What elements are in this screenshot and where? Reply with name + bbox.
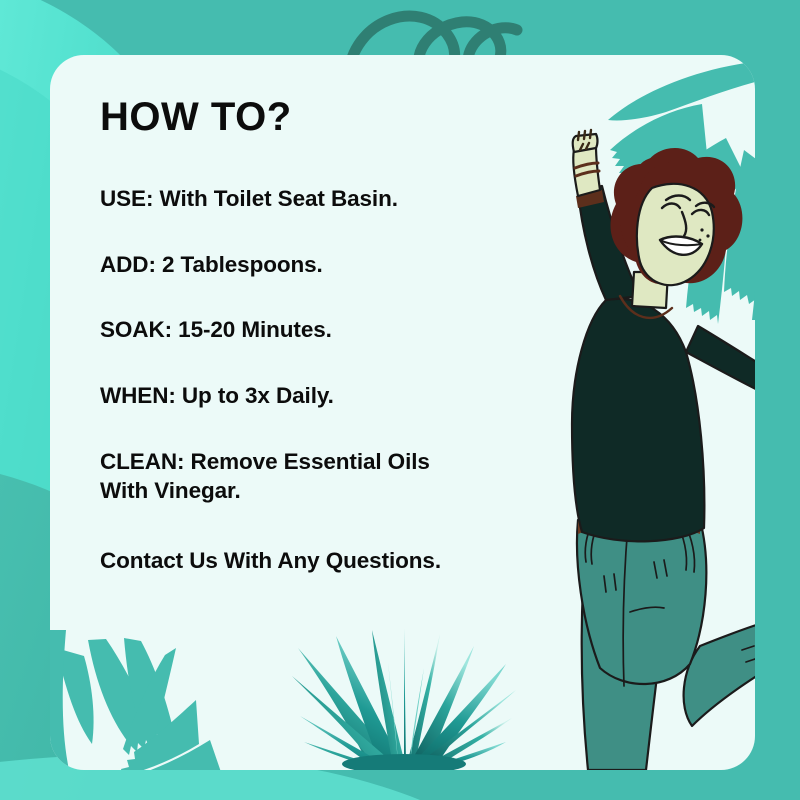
contact-text: Contact Us With Any Questions. <box>100 546 570 576</box>
instructions-panel: HOW TO? USE: With Toilet Seat Basin. ADD… <box>100 96 570 576</box>
poster-canvas: HOW TO? USE: With Toilet Seat Basin. ADD… <box>0 0 800 800</box>
instruction-clean-line1: CLEAN: Remove Essential Oils <box>100 447 570 477</box>
instruction-clean-line2: With Vinegar. <box>100 476 570 506</box>
center-agave-plant <box>292 628 516 774</box>
instruction-when: WHEN: Up to 3x Daily. <box>100 381 570 411</box>
instruction-add: ADD: 2 Tablespoons. <box>100 250 570 280</box>
woman-illustration <box>572 130 800 770</box>
instruction-soak: SOAK: 15-20 Minutes. <box>100 315 570 345</box>
page-title: HOW TO? <box>100 96 570 138</box>
instruction-use: USE: With Toilet Seat Basin. <box>100 184 570 214</box>
bottom-left-plant-icon <box>30 630 222 799</box>
